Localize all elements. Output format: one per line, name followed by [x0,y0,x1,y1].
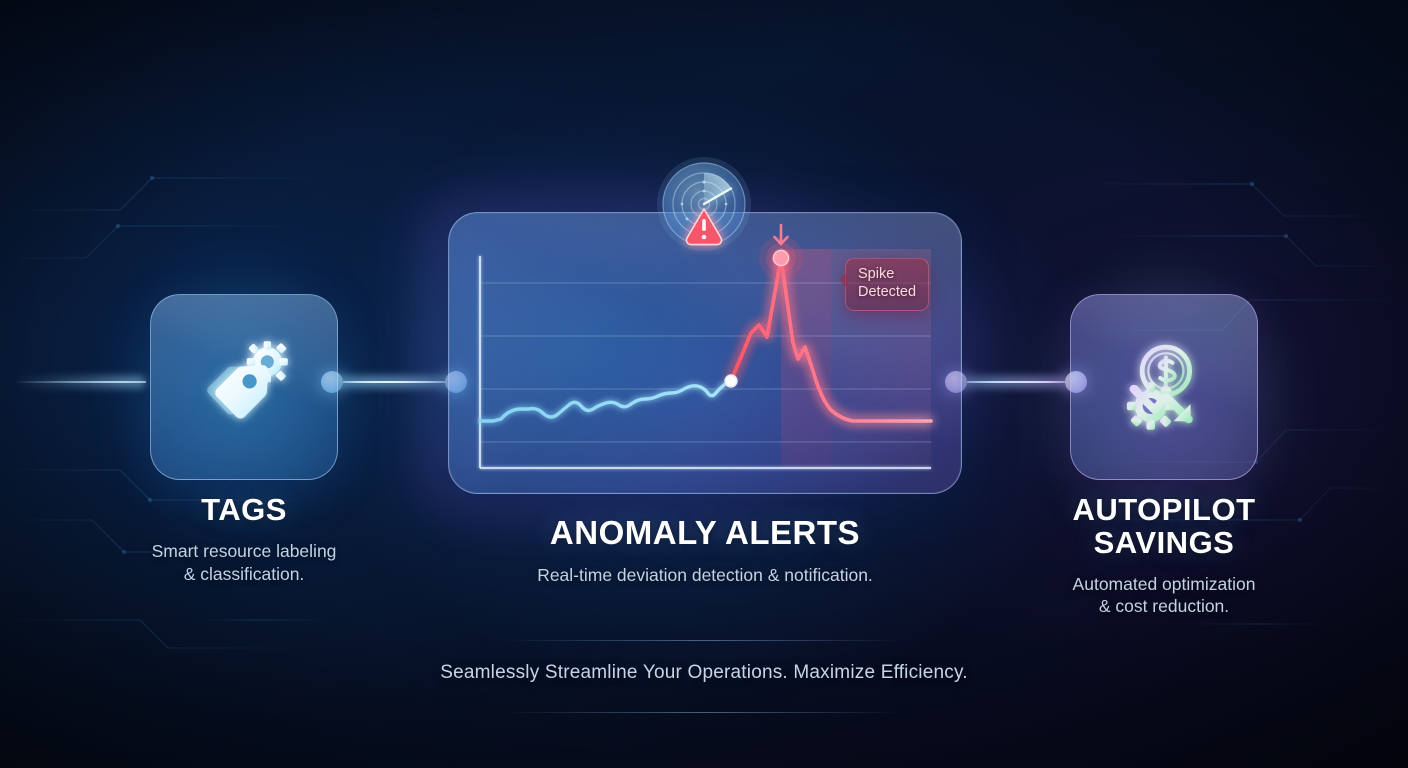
savings-title-line1: AUTOPILOT [1010,494,1318,527]
savings-subtitle-line2: & cost reduction. [1010,595,1318,618]
footer-divider-bottom [504,712,904,713]
chart-band-spike [781,249,831,468]
anomaly-chart [449,213,962,494]
tags-subtitle-line2: & classification. [88,563,400,586]
card-autopilot-savings[interactable] [1070,294,1258,480]
chart-marker-spike-peak [773,250,788,265]
savings-subtitle-line1: Automated optimization [1010,573,1318,596]
tooltip-arrow [839,272,847,288]
tooltip-line-1: Spike [858,265,916,283]
radar-sweep-warning-icon [653,153,755,255]
dollar-gear-down-arrow-icon [1107,330,1221,444]
spike-detected-tooltip: Spike Detected [845,258,929,311]
alerts-title: ANOMALY ALERTS [454,516,956,551]
card-tags[interactable] [150,294,338,480]
savings-title-line2: SAVINGS [1010,527,1318,560]
footer-tagline: Seamlessly Streamline Your Operations. M… [0,662,1408,684]
connector-tags-to-alerts [332,380,456,384]
chart-marker-transition [725,375,737,387]
alerts-label-block: ANOMALY ALERTS Real-time deviation detec… [454,516,956,587]
tags-subtitle-line1: Smart resource labeling [88,540,400,563]
alerts-subtitle: Real-time deviation detection & notifica… [454,564,956,587]
infographic-stage: TAGS Smart resource labeling & classific… [0,0,1408,768]
connector-edge-left [14,380,146,384]
tags-label-block: TAGS Smart resource labeling & classific… [88,494,400,585]
tooltip-line-2: Detected [858,283,916,301]
tags-title: TAGS [88,494,400,527]
footer-divider-top [504,640,904,641]
savings-label-block: AUTOPILOT SAVINGS Automated optimization… [1010,494,1318,618]
connector-alerts-to-savings [956,380,1076,384]
chart-line-baseline [480,381,731,421]
tag-gear-icon [188,331,300,443]
